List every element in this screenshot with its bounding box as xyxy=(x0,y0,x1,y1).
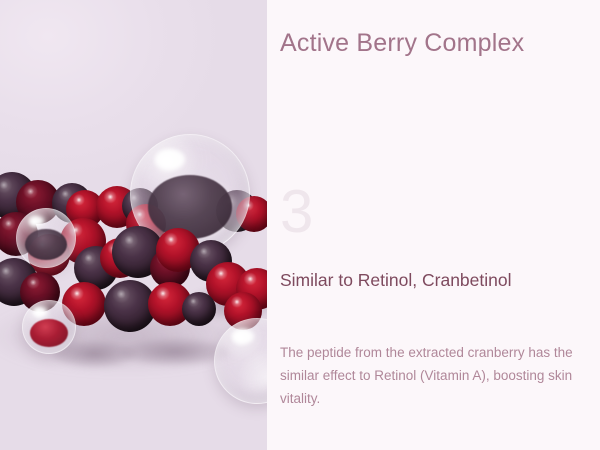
glass-highlight xyxy=(33,307,47,316)
berry-inside-marble xyxy=(30,319,67,347)
berry-inside-glass xyxy=(148,175,233,239)
feature-description: The peptide from the extracted cranberry… xyxy=(280,341,585,411)
feature-subtitle: Similar to Retinol, Cranbetinol xyxy=(280,268,512,293)
berry-photo-panel xyxy=(0,0,267,450)
product-banner: Active Berry Complex 3 Similar to Retino… xyxy=(0,0,600,450)
step-number: 3 xyxy=(280,182,313,242)
glass-marble-red xyxy=(22,300,76,354)
page-title: Active Berry Complex xyxy=(280,29,524,58)
glass-sphere-small xyxy=(16,208,76,268)
glass-highlight xyxy=(232,329,254,344)
glass-highlight xyxy=(29,216,44,226)
glass-highlight xyxy=(155,149,186,170)
berry-inside-glass xyxy=(25,229,67,260)
copy-panel: Active Berry Complex 3 Similar to Retino… xyxy=(267,0,600,450)
berry-dark xyxy=(182,292,216,326)
